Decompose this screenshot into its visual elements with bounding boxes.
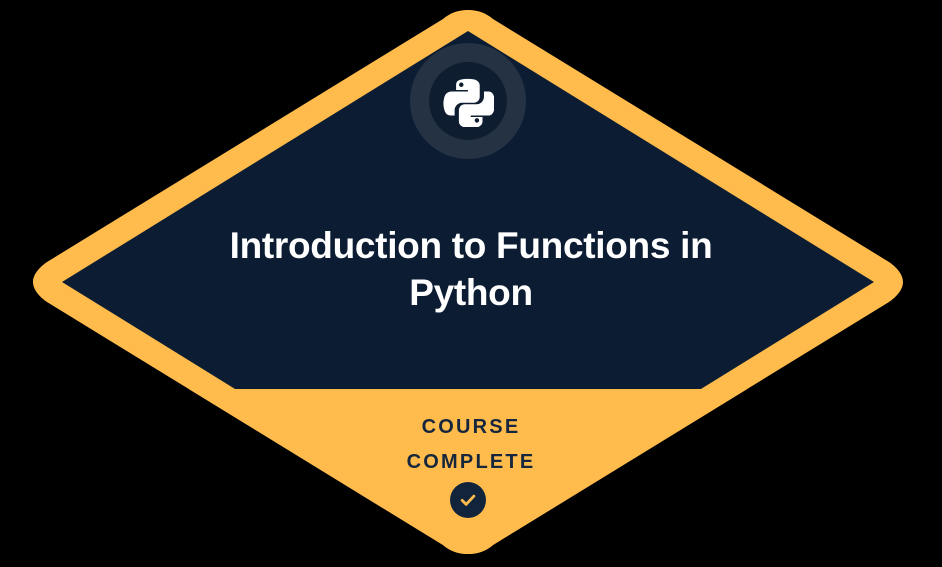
badge-shape <box>0 0 942 567</box>
badge-container: Introduction to Functions in Python COUR… <box>0 0 942 567</box>
badge-panel-group <box>0 31 942 567</box>
badge-footer-band <box>0 389 942 567</box>
